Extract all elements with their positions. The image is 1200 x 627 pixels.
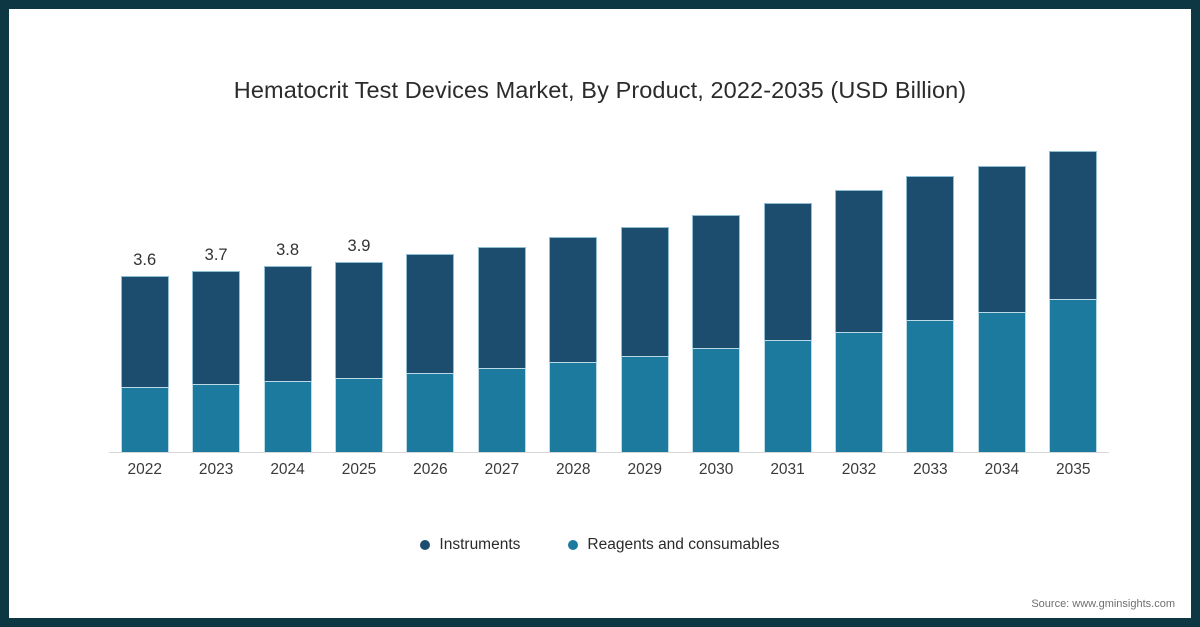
x-tick-2024: 2024 <box>253 461 323 479</box>
bar-2029[interactable] <box>621 227 669 453</box>
bar-segment-instruments[interactable] <box>764 203 812 340</box>
bar-value-label-2022: 3.6 <box>133 251 156 270</box>
chart-canvas: Hematocrit Test Devices Market, By Produ… <box>9 9 1191 618</box>
bar-segment-instruments[interactable] <box>835 190 883 331</box>
bar-segment-instruments[interactable] <box>549 237 597 362</box>
bar-segment-reagents[interactable] <box>692 348 740 453</box>
x-tick-2032: 2032 <box>824 461 894 479</box>
bar-2024[interactable]: 3.8 <box>264 266 312 453</box>
bar-segment-instruments[interactable] <box>621 227 669 356</box>
bar-2034[interactable] <box>978 166 1026 453</box>
chart-figure: Hematocrit Test Devices Market, By Produ… <box>0 0 1200 627</box>
bar-segment-instruments[interactable]: 3.9 <box>335 262 383 378</box>
bar-2028[interactable] <box>549 237 597 453</box>
bar-value-label-2024: 3.8 <box>276 241 299 260</box>
bar-segment-instruments[interactable]: 3.7 <box>192 271 240 384</box>
bar-segment-instruments[interactable] <box>978 166 1026 312</box>
bar-2026[interactable] <box>406 254 454 453</box>
plot-area: 3.63.73.83.9 <box>109 129 1109 453</box>
bar-segment-instruments[interactable] <box>406 254 454 373</box>
bar-2023[interactable]: 3.7 <box>192 271 240 453</box>
bar-2031[interactable] <box>764 203 812 453</box>
bar-segment-reagents[interactable] <box>264 381 312 453</box>
bar-segment-reagents[interactable] <box>835 332 883 453</box>
x-tick-2023: 2023 <box>181 461 251 479</box>
legend-item-2[interactable]: Reagents and consumables <box>568 536 779 554</box>
x-tick-2022: 2022 <box>110 461 180 479</box>
bar-2027[interactable] <box>478 247 526 453</box>
bar-segment-instruments[interactable]: 3.8 <box>264 266 312 380</box>
source-attribution: Source: www.gminsights.com <box>1031 598 1175 610</box>
x-tick-2026: 2026 <box>395 461 465 479</box>
bar-segment-reagents[interactable] <box>978 312 1026 453</box>
bar-segment-reagents[interactable] <box>764 340 812 453</box>
x-axis-baseline <box>109 452 1109 453</box>
x-tick-2028: 2028 <box>538 461 608 479</box>
bar-2030[interactable] <box>692 215 740 453</box>
x-tick-2034: 2034 <box>967 461 1037 479</box>
bar-segment-reagents[interactable] <box>192 384 240 453</box>
x-tick-2025: 2025 <box>324 461 394 479</box>
chart-legend: InstrumentsReagents and consumables <box>9 536 1191 554</box>
x-tick-2029: 2029 <box>610 461 680 479</box>
legend-item-1[interactable]: Instruments <box>420 536 520 554</box>
x-tick-2031: 2031 <box>753 461 823 479</box>
bar-segment-instruments[interactable] <box>692 215 740 349</box>
legend-dot-icon <box>568 540 578 550</box>
bar-segment-reagents[interactable] <box>906 320 954 453</box>
chart-title: Hematocrit Test Devices Market, By Produ… <box>9 77 1191 104</box>
legend-label: Instruments <box>439 536 520 554</box>
x-tick-2035: 2035 <box>1038 461 1108 479</box>
bar-2033[interactable] <box>906 176 954 453</box>
x-tick-2030: 2030 <box>681 461 751 479</box>
bar-segment-reagents[interactable] <box>621 356 669 453</box>
bar-segment-instruments[interactable]: 3.6 <box>121 276 169 386</box>
bar-value-label-2023: 3.7 <box>205 246 228 265</box>
bar-2025[interactable]: 3.9 <box>335 262 383 453</box>
bar-2032[interactable] <box>835 190 883 453</box>
x-tick-2033: 2033 <box>895 461 965 479</box>
bar-segment-instruments[interactable] <box>906 176 954 321</box>
bar-2035[interactable] <box>1049 151 1097 453</box>
legend-label: Reagents and consumables <box>587 536 779 554</box>
bar-segment-reagents[interactable] <box>121 387 169 453</box>
bar-value-label-2025: 3.9 <box>348 237 371 256</box>
x-axis-tick-labels: 2022202320242025202620272028202920302031… <box>109 461 1109 487</box>
bar-2022[interactable]: 3.6 <box>121 276 169 453</box>
bar-segment-reagents[interactable] <box>1049 299 1097 453</box>
bar-segment-reagents[interactable] <box>406 373 454 453</box>
bar-segment-reagents[interactable] <box>549 362 597 453</box>
bar-segment-instruments[interactable] <box>478 247 526 368</box>
legend-dot-icon <box>420 540 430 550</box>
x-tick-2027: 2027 <box>467 461 537 479</box>
bar-segment-reagents[interactable] <box>335 378 383 453</box>
bar-segment-reagents[interactable] <box>478 368 526 453</box>
bar-segment-instruments[interactable] <box>1049 151 1097 299</box>
